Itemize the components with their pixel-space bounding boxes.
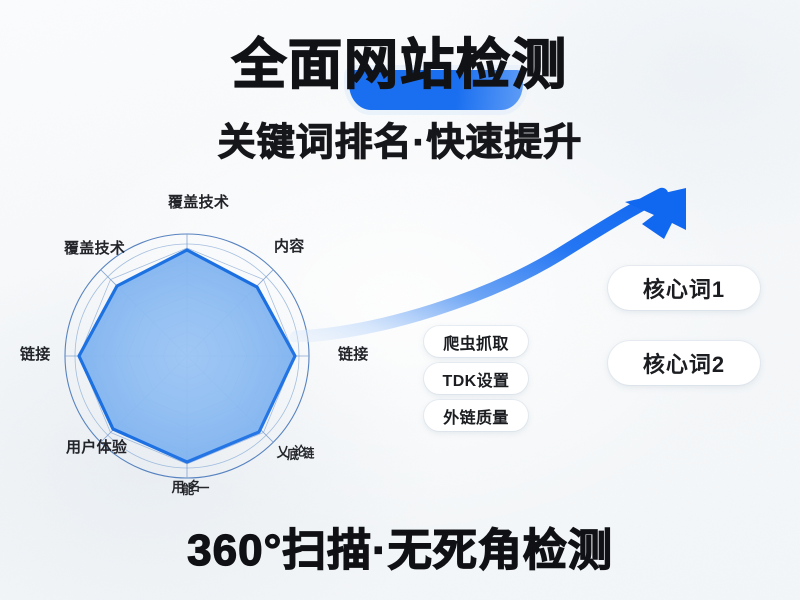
growth-arrow	[288, 182, 708, 342]
radar-label-bottom: 用能名一	[172, 478, 211, 496]
pill-tdk[interactable]: TDK设置	[424, 363, 528, 394]
page-title: 全面网站检测	[232, 32, 568, 98]
radar-label-top-left: 覆盖技术	[64, 240, 125, 258]
radar-label-right: 链接	[338, 346, 369, 364]
arrow-shaft	[296, 194, 662, 337]
pill-keyword-2-label: 核心词2	[643, 347, 725, 379]
title-area: 全面网站检测	[0, 32, 800, 106]
radar-label-left: 链接	[20, 346, 51, 364]
pill-tdk-label: TDK设置	[443, 367, 510, 391]
pill-backlink-quality[interactable]: 外链质量	[424, 400, 528, 431]
radar-data-polygon	[79, 250, 295, 462]
page-footline: 360°扫描·无死角检测	[187, 522, 613, 580]
radar-label-top: 覆盖技术	[168, 194, 229, 212]
pill-crawl[interactable]: 爬虫抓取	[424, 326, 528, 357]
pill-backlink-quality-label: 外链质量	[443, 404, 509, 428]
subtitle-area: 关键词排名·快速提升	[0, 118, 800, 168]
pill-crawl-label: 爬虫抓取	[443, 330, 509, 354]
radar-label-bottom-right: 乂底论链	[277, 443, 316, 461]
footline-area: 360°扫描·无死角检测	[0, 522, 800, 580]
pill-keyword-1[interactable]: 核心词1	[608, 266, 760, 310]
pill-keyword-1-label: 核心词1	[643, 272, 725, 304]
page-subtitle: 关键词排名·快速提升	[218, 118, 583, 168]
pill-keyword-2[interactable]: 核心词2	[608, 341, 760, 385]
radar-label-bottom-left: 用户体验	[66, 439, 127, 457]
